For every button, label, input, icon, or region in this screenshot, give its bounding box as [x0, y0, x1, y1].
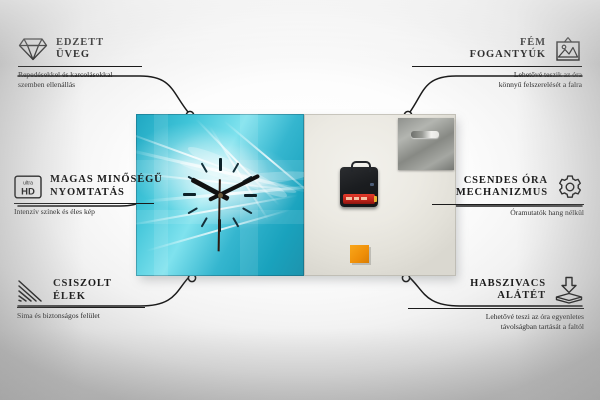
callout-title: FÉM FOGANTYÚK: [470, 37, 546, 62]
callout-rule: [408, 308, 584, 309]
polished-edge-icon: [17, 279, 45, 303]
callout-description: Óramutatók hang nélkül: [410, 208, 584, 218]
callout-description: Intenzív színek és éles kép: [14, 207, 194, 217]
metal-hanger-plate: [398, 118, 454, 170]
ultra-hd-badge-icon: ultra HD: [14, 175, 42, 199]
mechanism-label: [370, 183, 374, 186]
callout-title: CSISZOLT ÉLEK: [53, 278, 112, 303]
callout-title: HABSZIVACS ALÁTÉT: [470, 278, 546, 303]
callout-title: CSENDES ÓRA MECHANIZMUS: [456, 175, 548, 200]
gear-icon: [556, 174, 584, 200]
callout-tempered-glass: EDZETT ÜVEG Repedésekkel és karcolásokka…: [18, 36, 188, 90]
callout-description: Repedésekkel és karcolásokkal szemben el…: [18, 70, 188, 90]
picture-hanger-icon: [554, 36, 582, 62]
callout-rule: [18, 66, 142, 67]
callout-title: MAGAS MINŐSÉGŰ NYOMTATÁS: [50, 174, 163, 199]
callout-rule: [17, 307, 145, 308]
infographic-canvas: EDZETT ÜVEG Repedésekkel és karcolásokka…: [0, 0, 600, 400]
foam-pad-arrow-icon: [554, 276, 584, 304]
quartz-clock-mechanism: [340, 167, 378, 207]
orange-foam-pad: [350, 245, 369, 263]
callout-high-quality-print: ultra HD MAGAS MINŐSÉGŰ NYOMTATÁS Intenz…: [14, 174, 194, 217]
callout-rule: [14, 203, 154, 204]
diamond-icon: [18, 36, 48, 62]
clock-center-cap: [218, 193, 223, 198]
callout-metal-handles: FÉM FOGANTYÚK Lehetővé teszik az óra kön…: [412, 36, 582, 90]
callout-description: Lehetővé teszi az óra egyenletes távolsá…: [408, 312, 584, 332]
callout-rule: [412, 66, 582, 67]
svg-text:HD: HD: [21, 186, 35, 197]
aa-battery: [343, 194, 375, 204]
callout-rule: [432, 204, 584, 205]
callout-foam-pad: HABSZIVACS ALÁTÉT Lehetővé teszi az óra …: [408, 276, 584, 332]
callout-description: Sima és biztonságos felület: [17, 311, 187, 321]
callout-polished-edges: CSISZOLT ÉLEK Sima és biztonságos felüle…: [17, 278, 187, 321]
callout-description: Lehetővé teszik az óra könnyű felszerelé…: [412, 70, 582, 90]
callout-silent-mechanism: CSENDES ÓRA MECHANIZMUS Óramutatók hang …: [410, 174, 584, 218]
callout-title: EDZETT ÜVEG: [56, 37, 104, 62]
mechanism-hanger-loop: [351, 161, 371, 172]
